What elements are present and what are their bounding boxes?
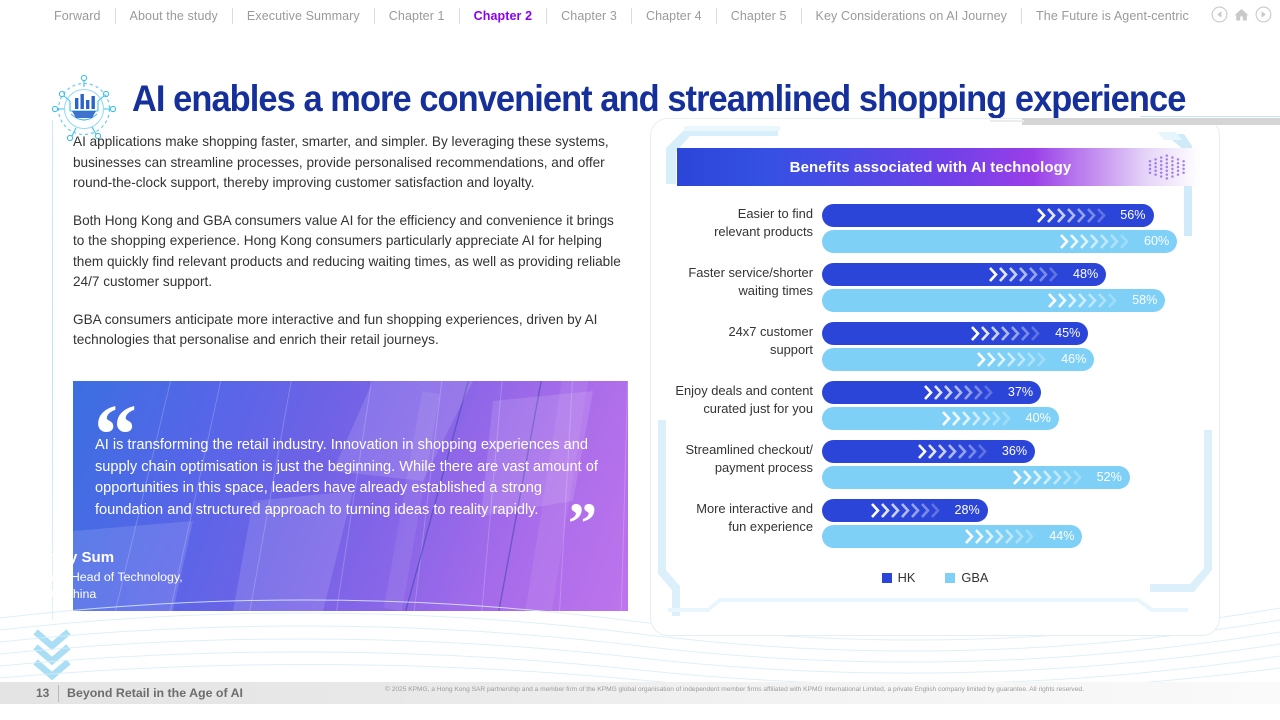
home-icon[interactable] xyxy=(1232,6,1251,23)
bar-chevron-pattern-icon xyxy=(976,348,1048,371)
nav-item-executive-summary[interactable]: Executive Summary xyxy=(233,8,374,24)
footer-title: Beyond Retail in the Age of AI xyxy=(67,686,243,700)
title-rule xyxy=(1140,116,1280,117)
bar-value-label: 45% xyxy=(1055,322,1080,345)
bar-value-label: 48% xyxy=(1073,263,1098,286)
legend-item-gba[interactable]: GBA xyxy=(945,570,988,585)
chart-title: Benefits associated with AI technology xyxy=(790,159,1072,176)
footer-page-number: 13 xyxy=(36,686,49,700)
nav-item-chapter-3[interactable]: Chapter 3 xyxy=(547,8,631,24)
bar-chevron-pattern-icon xyxy=(923,381,995,404)
bar-hk: 56% xyxy=(822,204,1154,227)
bar-value-label: 37% xyxy=(1008,381,1033,404)
bar-gba: 40% xyxy=(822,407,1059,430)
bar-category-label: More interactive andfun experience xyxy=(665,500,813,535)
body-paragraph-1: AI applications make shopping faster, sm… xyxy=(73,132,621,194)
bar-chevron-pattern-icon xyxy=(870,499,942,522)
bar-category-label: Easier to findrelevant products xyxy=(665,205,813,240)
left-accent-line xyxy=(52,120,53,620)
legend-label: GBA xyxy=(961,570,988,585)
next-icon[interactable] xyxy=(1255,6,1272,23)
bar-chevron-pattern-icon xyxy=(941,407,1013,430)
nav-item-about-the-study[interactable]: About the study xyxy=(116,8,232,24)
bar-gba: 46% xyxy=(822,348,1094,371)
bar-value-label: 40% xyxy=(1026,407,1051,430)
bar-hk: 48% xyxy=(822,263,1106,286)
bar-category-label: Enjoy deals and contentcurated just for … xyxy=(665,382,813,417)
body-paragraph-2: Both Hong Kong and GBA consumers value A… xyxy=(73,211,621,293)
bar-hk: 37% xyxy=(822,381,1041,404)
top-scroll-bar[interactable] xyxy=(1022,118,1280,125)
footer-copyright: © 2025 KPMG, a Hong Kong SAR partnership… xyxy=(385,686,1084,693)
legend-label: HK xyxy=(898,570,916,585)
chart-title-bar: Benefits associated with AI technology xyxy=(677,148,1200,186)
bar-chevron-pattern-icon xyxy=(1036,204,1108,227)
bar-chevron-pattern-icon xyxy=(1059,230,1131,253)
legend-swatch xyxy=(945,573,955,583)
bar-chevron-pattern-icon xyxy=(988,263,1060,286)
slide-page: ForwardAbout the studyExecutive SummaryC… xyxy=(0,0,1280,720)
bar-value-label: 56% xyxy=(1120,204,1145,227)
bar-chevron-pattern-icon xyxy=(970,322,1042,345)
bar-value-label: 28% xyxy=(955,499,980,522)
bar-category-label: Faster service/shorterwaiting times xyxy=(665,264,813,299)
page-title: AI enables a more convenient and streaml… xyxy=(132,78,1185,120)
nav-item-chapter-5[interactable]: Chapter 5 xyxy=(717,8,801,24)
nav-controls xyxy=(1211,6,1272,23)
bar-value-label: 58% xyxy=(1132,289,1157,312)
bar-gba: 60% xyxy=(822,230,1177,253)
bar-gba: 44% xyxy=(822,525,1082,548)
bar-chevron-pattern-icon xyxy=(1047,289,1119,312)
title-row: AI enables a more convenient and streaml… xyxy=(0,36,1280,98)
nav-item-key-considerations-on-ai-journey[interactable]: Key Considerations on AI Journey xyxy=(802,8,1022,24)
bar-category-label: Streamlined checkout/payment process xyxy=(665,441,813,476)
bar-gba: 58% xyxy=(822,289,1165,312)
bar-gba: 52% xyxy=(822,466,1130,489)
bar-hk: 45% xyxy=(822,322,1088,345)
bar-group: More interactive andfun experience28%44% xyxy=(650,491,1220,550)
nav-item-chapter-4[interactable]: Chapter 4 xyxy=(632,8,716,24)
bar-value-label: 60% xyxy=(1144,230,1169,253)
bar-category-label: 24x7 customersupport xyxy=(665,323,813,358)
bar-chevron-pattern-icon xyxy=(1012,466,1084,489)
bar-group: Easier to findrelevant products56%60% xyxy=(650,196,1220,255)
nav-item-chapter-2[interactable]: Chapter 2 xyxy=(460,8,547,24)
chart-bars: Easier to findrelevant products56%60%Fas… xyxy=(650,196,1220,550)
bar-hk: 36% xyxy=(822,440,1035,463)
bar-value-label: 46% xyxy=(1061,348,1086,371)
legend-item-hk[interactable]: HK xyxy=(882,570,916,585)
nav-item-list: ForwardAbout the studyExecutive SummaryC… xyxy=(40,8,1203,24)
bar-hk: 28% xyxy=(822,499,988,522)
nav-item-forward[interactable]: Forward xyxy=(40,8,115,24)
bar-value-label: 44% xyxy=(1049,525,1074,548)
bar-value-label: 52% xyxy=(1097,466,1122,489)
top-scroll-track xyxy=(990,120,1024,122)
top-navigation: ForwardAbout the studyExecutive SummaryC… xyxy=(0,0,1280,32)
bar-group: 24x7 customersupport45%46% xyxy=(650,314,1220,373)
body-paragraph-3: GBA consumers anticipate more interactiv… xyxy=(73,310,621,351)
nav-item-chapter-1[interactable]: Chapter 1 xyxy=(375,8,459,24)
legend-swatch xyxy=(882,573,892,583)
bar-group: Streamlined checkout/payment process36%5… xyxy=(650,432,1220,491)
bar-value-label: 36% xyxy=(1002,440,1027,463)
bar-group: Enjoy deals and contentcurated just for … xyxy=(650,373,1220,432)
bar-chevron-pattern-icon xyxy=(917,440,989,463)
quote-close-mark: ” xyxy=(568,495,596,553)
previous-icon[interactable] xyxy=(1211,6,1228,23)
quote-text: AI is transforming the retail industry. … xyxy=(95,435,610,521)
nav-item-the-future-is-agent-centric[interactable]: The Future is Agent-centric xyxy=(1022,8,1203,24)
footer-divider xyxy=(58,685,59,702)
body-copy: AI applications make shopping faster, sm… xyxy=(73,132,621,368)
chart-legend: HKGBA xyxy=(650,570,1220,585)
bar-group: Faster service/shorterwaiting times48%58… xyxy=(650,255,1220,314)
bar-chevron-pattern-icon xyxy=(964,525,1036,548)
header-dot-pattern-icon xyxy=(1146,153,1190,186)
